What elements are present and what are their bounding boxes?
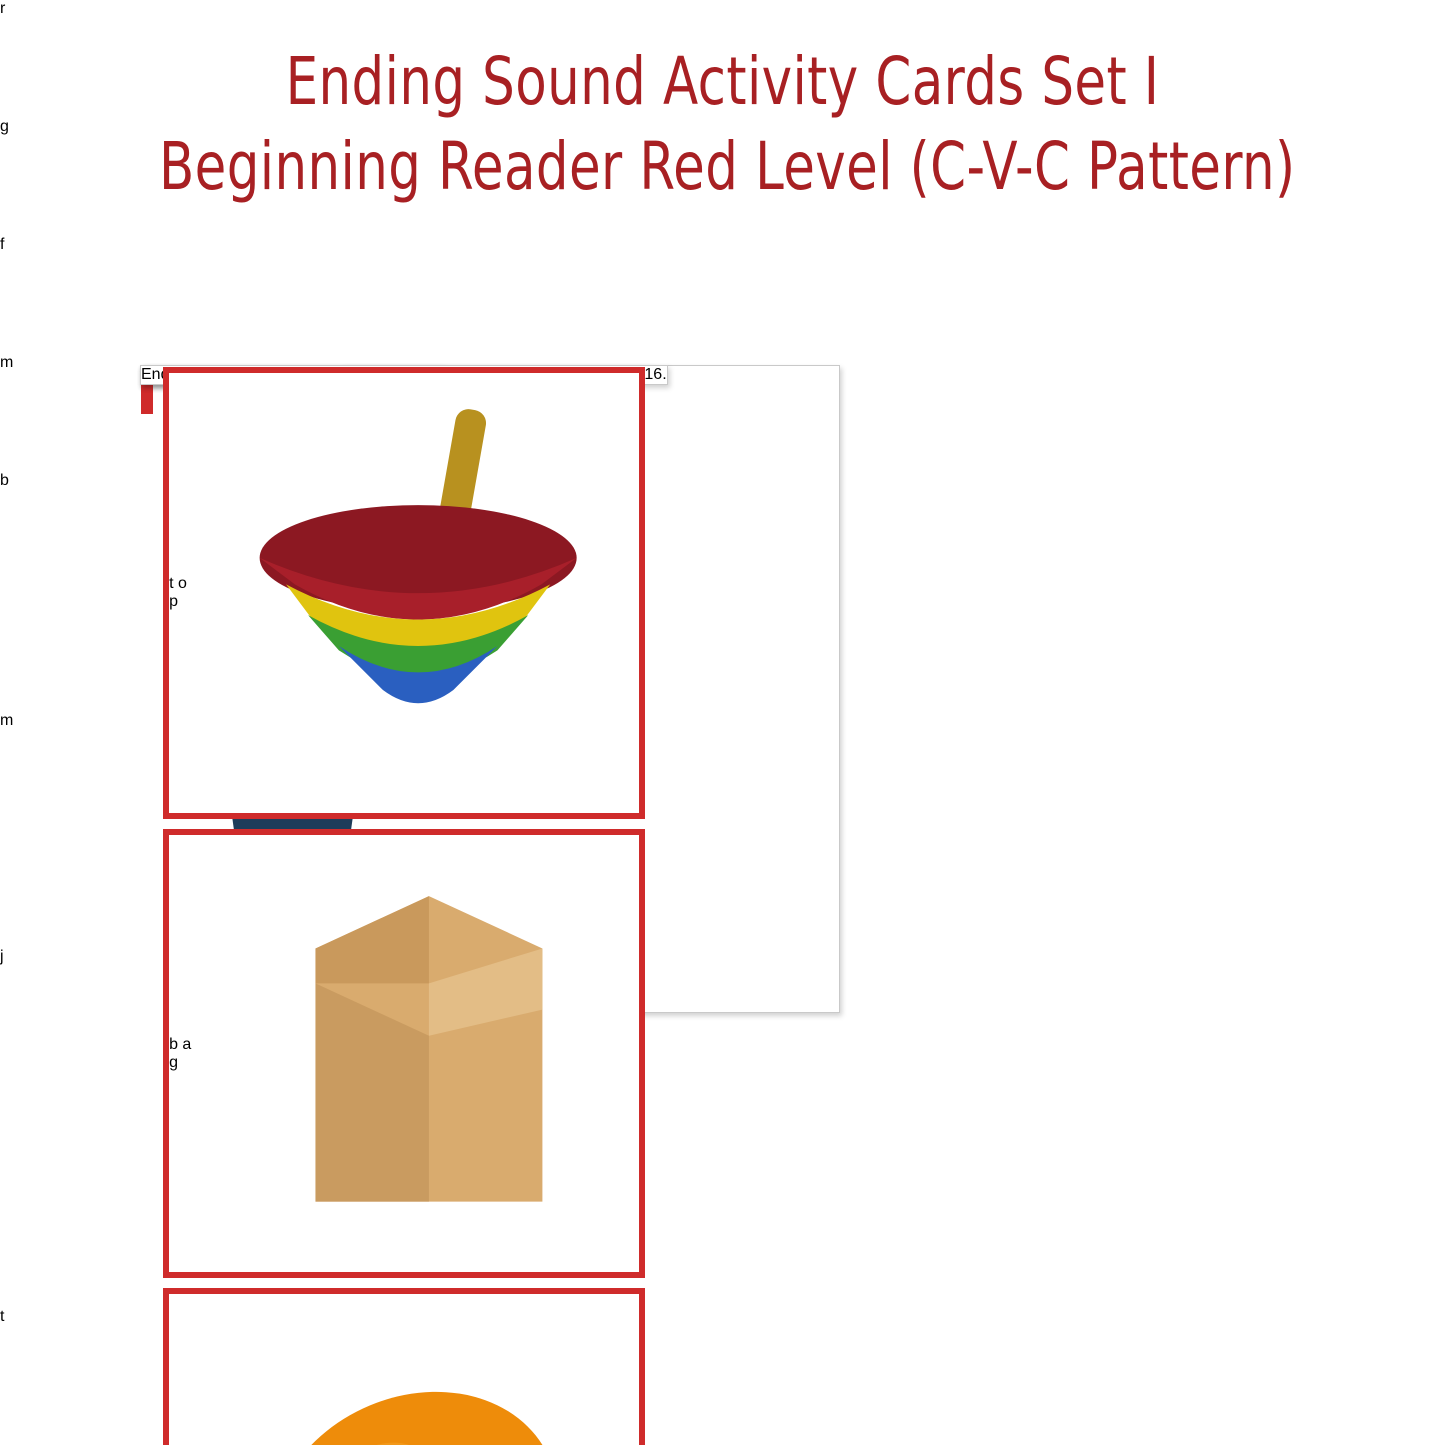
letter-tile-glyph: j <box>0 948 4 965</box>
word-row-bag[interactable]: b a g <box>163 829 645 1277</box>
letter-tile-blank[interactable] <box>0 594 64 712</box>
letter-tile-blank[interactable] <box>0 830 64 948</box>
letter-tile-m[interactable]: m <box>0 712 64 830</box>
word-row-top[interactable]: t o p <box>163 367 645 819</box>
letter-tile-t[interactable]: t <box>0 1308 64 1426</box>
letter-glyph: a <box>182 1036 191 1053</box>
letter-tile-glyph: m <box>0 712 13 729</box>
picture-spinning-top <box>198 373 638 813</box>
letter-tile-f[interactable]: f <box>0 236 64 354</box>
page-title: Ending Sound Activity Cards Set I Beginn… <box>0 42 1445 207</box>
title-line-2: Beginning Reader Red Level (C-V-C Patter… <box>159 127 1286 208</box>
letter-tile-blank[interactable] <box>0 1426 64 1445</box>
letter-tile-glyph: f <box>0 236 4 253</box>
letter-glyph: t <box>169 575 173 592</box>
front-activity-card[interactable]: t o p <box>140 365 668 385</box>
picture-paper-bag <box>202 835 638 1271</box>
word-row-nut[interactable]: n u <box>163 1288 645 1445</box>
letter-tile-blank[interactable] <box>0 1072 64 1190</box>
poster-canvas: Ending Sound Activity Cards Set I Beginn… <box>0 0 1445 1445</box>
letter-tile-blank[interactable] <box>0 1190 64 1308</box>
letter-tile-m[interactable]: m <box>0 354 64 472</box>
title-line-1: Ending Sound Activity Cards Set I <box>159 42 1286 123</box>
letter-glyph: o <box>178 575 187 592</box>
letter-tile-glyph: m <box>0 354 13 371</box>
answer-tile-letter: g <box>169 1054 178 1071</box>
letter-tile-glyph: b <box>0 472 9 489</box>
letter-tile-j[interactable]: j <box>0 948 62 1072</box>
letter-tile-b[interactable]: b <box>0 472 66 594</box>
letter-glyph: b <box>169 1036 178 1053</box>
answer-tile[interactable]: g <box>169 1054 178 1071</box>
picture-nut <box>190 1294 638 1445</box>
answer-tile-letter: p <box>169 593 178 610</box>
answer-tile[interactable]: p <box>169 593 178 610</box>
activity-card-stack: Beginning Reader Red Level Set 1 Montess… <box>140 365 860 1165</box>
letter-tile-glyph: r <box>0 0 5 17</box>
letter-tile-glyph: t <box>0 1308 4 1325</box>
